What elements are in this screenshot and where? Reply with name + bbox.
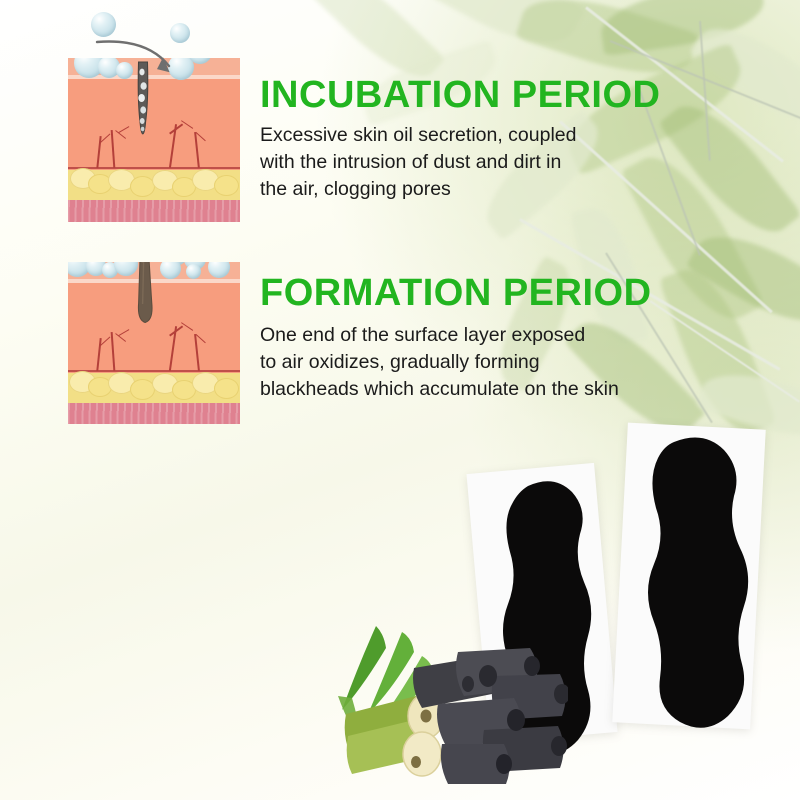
formation-heading: FORMATION PERIOD	[260, 272, 652, 315]
skin-cross-section-clogged-pore	[68, 58, 240, 222]
product-infographic-poster: INCUBATION PERIOD Excessive skin oil sec…	[0, 0, 800, 800]
formation-body-line: One end of the surface layer exposed	[260, 322, 619, 349]
incubation-body-line: the air, clogging pores	[260, 176, 577, 203]
formation-body-line: to air oxidizes, gradually forming	[260, 349, 619, 376]
incubation-body: Excessive skin oil secretion, coupled wi…	[260, 122, 577, 203]
incubation-body-line: with the intrusion of dust and dirt in	[260, 149, 577, 176]
flow-arrow-icon	[95, 28, 205, 78]
bubble	[186, 264, 201, 279]
incubation-heading: INCUBATION PERIOD	[260, 74, 660, 117]
right-nose-strip	[622, 434, 770, 734]
bamboo-charcoal-pile	[318, 618, 568, 800]
skin-cross-section-blackhead	[68, 262, 240, 424]
formation-body: One end of the surface layer exposed to …	[260, 322, 619, 403]
incubation-body-line: Excessive skin oil secretion, coupled	[260, 122, 577, 149]
formation-body-line: blackheads which accumulate on the skin	[260, 376, 619, 403]
blackhead-plug-icon	[128, 262, 162, 350]
